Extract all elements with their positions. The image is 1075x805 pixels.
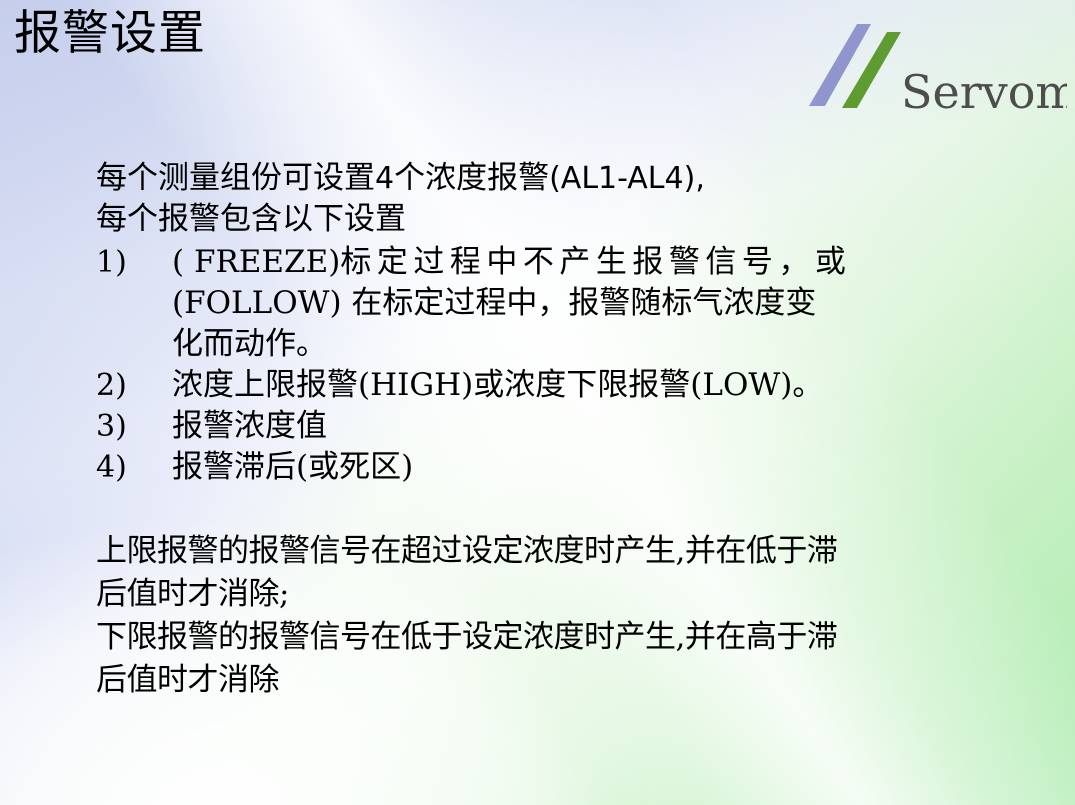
- list-item-1-follow-label: (FOLLOW): [172, 285, 342, 321]
- list-item-3: 3) 报警浓度值: [96, 406, 996, 447]
- slide-alarm-settings: 报警设置 Servomex 每个测量组份可设置4个浓度报警(AL1-AL4), …: [0, 0, 1075, 805]
- list-item-4: 4) 报警滞后(或死区): [96, 447, 996, 488]
- page-title: 报警设置: [14, 6, 206, 61]
- list-item-3-text: 报警浓度值: [172, 406, 996, 447]
- closing-line-3: 下限报警的报警信号在低于设定浓度时产生,并在高于滞: [96, 616, 996, 659]
- closing-paragraph: 上限报警的报警信号在超过设定浓度时产生,并在低于滞 后值时才消除; 下限报警的报…: [96, 530, 996, 702]
- list-item-2: 2) 浓度上限报警(HIGH)或浓度下限报警(LOW)。: [96, 365, 996, 406]
- list-item-1: 1) ( FREEZE)标定过程中不产生报警信号，或: [96, 242, 996, 283]
- list-item-2-high-label: (HIGH): [358, 367, 473, 403]
- list-item-1-line-1-cn: 标定过程中不产生报警信号，或: [340, 244, 851, 280]
- logo-wordmark: Servomex: [901, 65, 1067, 119]
- closing-line-4: 后值时才消除: [96, 659, 996, 702]
- intro-1-number: 4: [375, 161, 394, 196]
- intro-line-1: 每个测量组份可设置4个浓度报警(AL1-AL4),: [96, 158, 996, 199]
- list-item-1-number: 1): [96, 242, 172, 283]
- list-item-4-number: 4): [96, 447, 172, 488]
- list-item-1-line-3-cn: 化而动作。: [172, 326, 327, 362]
- intro-line-2: 每个报警包含以下设置: [96, 199, 996, 240]
- list-item-2-cn-c: 。: [792, 367, 823, 403]
- list-item-2-line-1: 浓度上限报警(HIGH)或浓度下限报警(LOW)。: [172, 365, 996, 406]
- intro-1-cn-before: 每个测量组份可设置: [96, 160, 375, 196]
- closing-line-2: 后值时才消除;: [96, 573, 996, 616]
- intro-1-code-range: (AL1-AL4),: [549, 161, 705, 196]
- list-item-3-number: 3): [96, 406, 172, 447]
- servomex-logo: Servomex: [795, 22, 1067, 126]
- list-item-1-line-2: (FOLLOW) 在标定过程中，报警随标气浓度变: [96, 283, 996, 324]
- list-item-2-cn-b: 或浓度下限报警: [473, 367, 690, 403]
- list-item-1-line-2-cn: 在标定过程中，报警随标气浓度变: [351, 285, 816, 321]
- list-item-1-line-1: ( FREEZE)标定过程中不产生报警信号，或: [172, 242, 996, 283]
- list-item-4-text: 报警滞后(或死区): [172, 447, 996, 488]
- list-item-1-freeze-label: ( FREEZE): [172, 244, 340, 280]
- list-item-1-line-3: 化而动作。: [96, 324, 996, 365]
- list-item-2-cn-a: 浓度上限报警: [172, 367, 358, 403]
- list-item-2-number: 2): [96, 365, 172, 406]
- list-item-2-low-label: (LOW): [690, 367, 792, 403]
- slide-content: 每个测量组份可设置4个浓度报警(AL1-AL4), 每个报警包含以下设置 1) …: [96, 158, 996, 702]
- settings-list: 1) ( FREEZE)标定过程中不产生报警信号，或 (FOLLOW) 在标定过…: [96, 242, 996, 488]
- closing-line-1: 上限报警的报警信号在超过设定浓度时产生,并在低于滞: [96, 530, 996, 573]
- intro-1-cn-mid: 个浓度报警: [394, 160, 549, 196]
